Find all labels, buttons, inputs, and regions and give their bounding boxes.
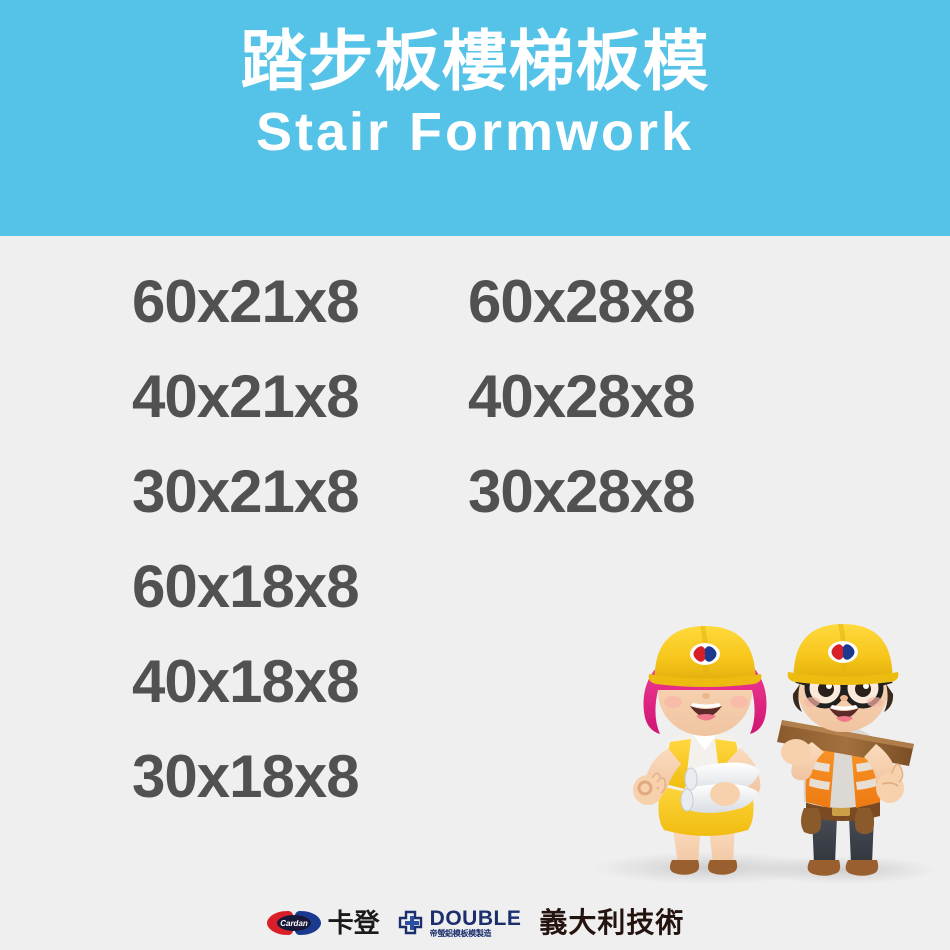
size-value: 60x21x8 <box>132 272 468 332</box>
cardan-wordmark: Cardan <box>280 919 308 928</box>
size-value: 60x28x8 <box>468 272 695 332</box>
helmet-cardan-badge <box>690 643 720 665</box>
male-worker-mascot <box>777 624 914 876</box>
size-row: 40x21x8 40x28x8 <box>132 367 852 462</box>
double-cross-mark-icon <box>396 908 426 938</box>
tagline-chinese: 義大利技術 <box>539 909 684 937</box>
mascot-shadow <box>753 856 937 884</box>
double-subtitle-chinese: 帝螢鋁模板模製造 <box>430 930 492 938</box>
construction-mascots-illustration <box>560 592 950 888</box>
size-row: 60x21x8 60x28x8 <box>132 272 852 367</box>
double-logo: DOUBLE 帝螢鋁模板模製造 <box>396 908 522 938</box>
size-value: 30x21x8 <box>132 462 468 522</box>
helmet-cardan-badge <box>828 641 858 663</box>
footer-brand-bar: Cardan 卡登 DOUBLE 帝螢鋁模板模製造 義大利技術 <box>0 908 950 938</box>
size-value: 60x18x8 <box>132 557 468 617</box>
page-title-chinese: 踏步板樓梯板模 <box>241 26 710 97</box>
size-row: 30x21x8 30x28x8 <box>132 462 852 557</box>
header-banner: 踏步板樓梯板模 Stair Formwork <box>0 0 950 236</box>
cardan-mark-icon: Cardan <box>266 909 322 937</box>
cardan-logo: Cardan 卡登 <box>266 909 380 937</box>
size-value: 30x28x8 <box>468 462 695 522</box>
female-worker-mascot <box>633 626 767 875</box>
cardan-brand-chinese: 卡登 <box>328 910 380 936</box>
size-value: 40x28x8 <box>468 367 695 427</box>
size-value: 40x21x8 <box>132 367 468 427</box>
size-value: 40x18x8 <box>132 652 468 712</box>
size-value: 30x18x8 <box>132 747 468 807</box>
page-title-english: Stair Formwork <box>256 103 694 162</box>
double-wordmark: DOUBLE <box>430 908 522 929</box>
